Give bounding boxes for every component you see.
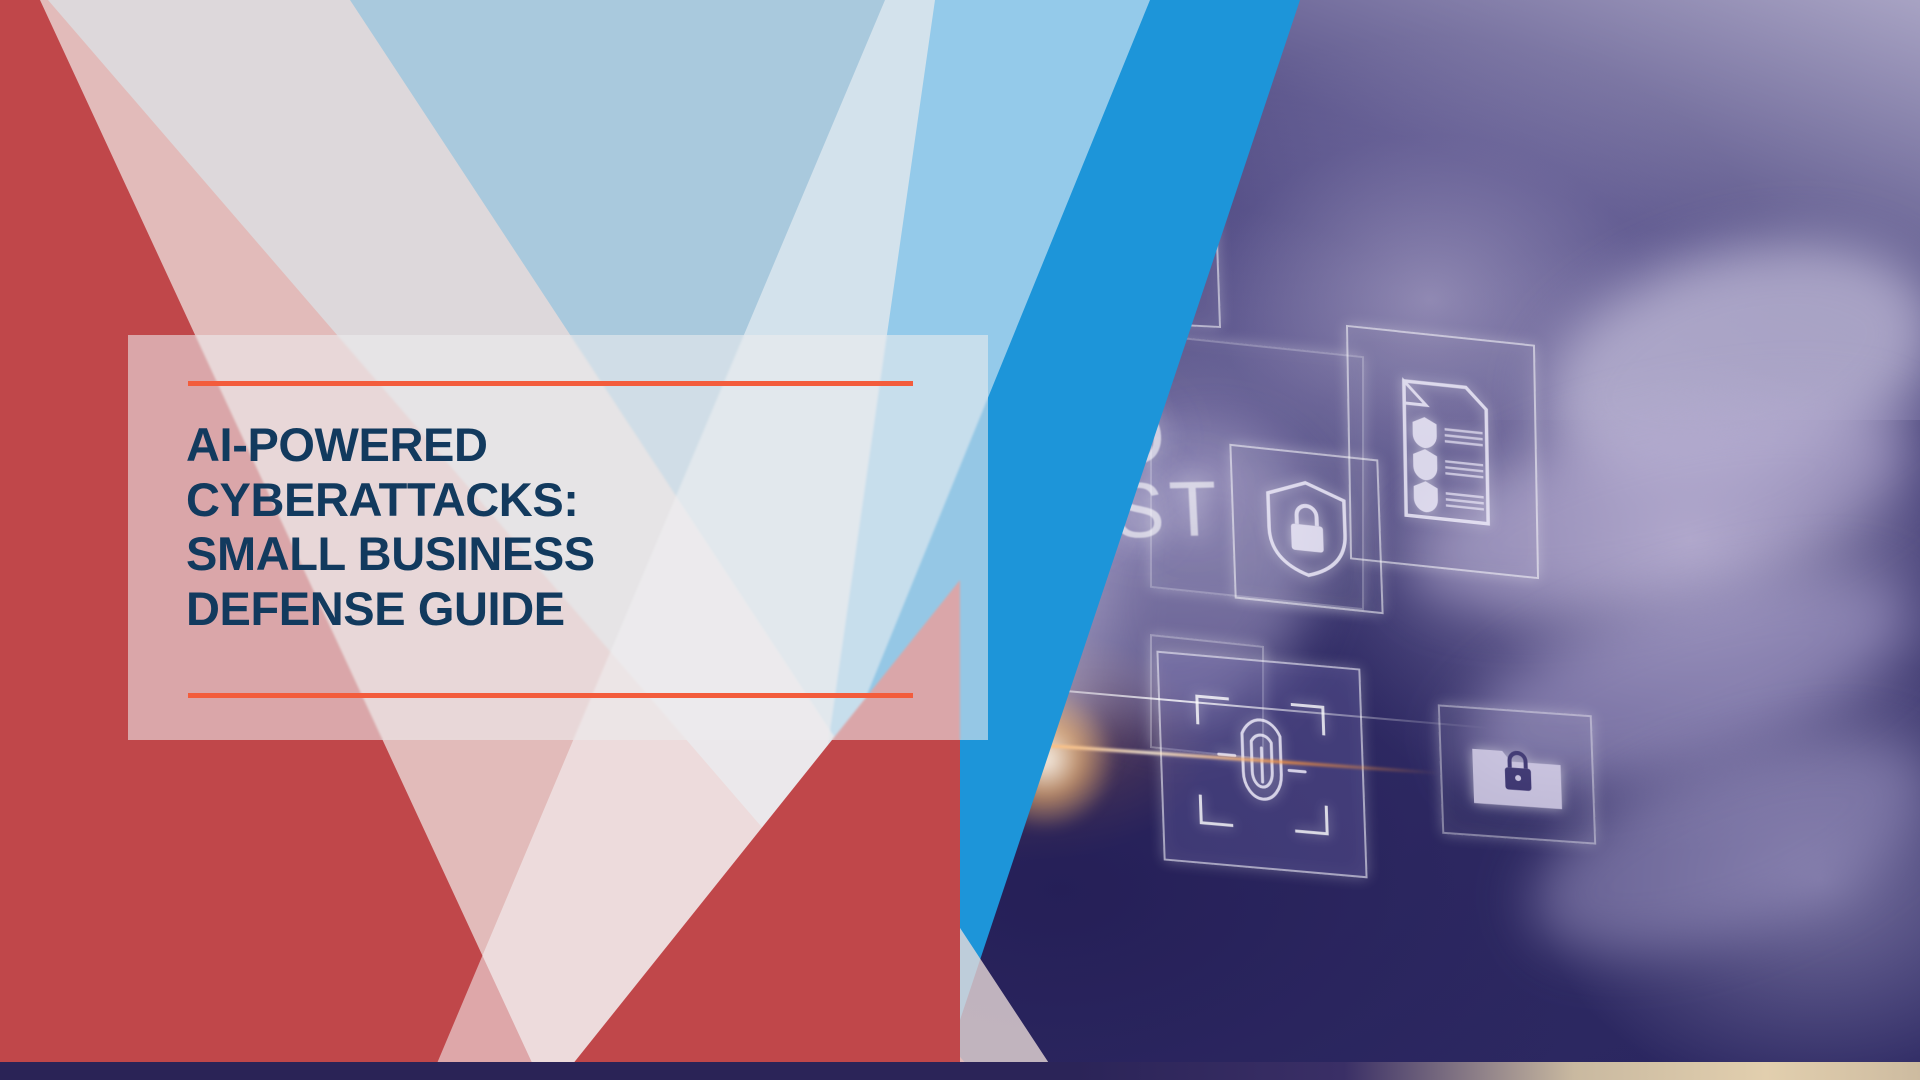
accent-rule-bottom <box>188 693 913 698</box>
shape-bottom-bar-left <box>0 1070 760 1080</box>
accent-rule-top <box>188 381 913 386</box>
banner-graphic: ZERO TRUST <box>0 0 1920 1080</box>
page-title: AI-POWERED CYBERATTACKS: SMALL BUSINESS … <box>186 418 926 636</box>
